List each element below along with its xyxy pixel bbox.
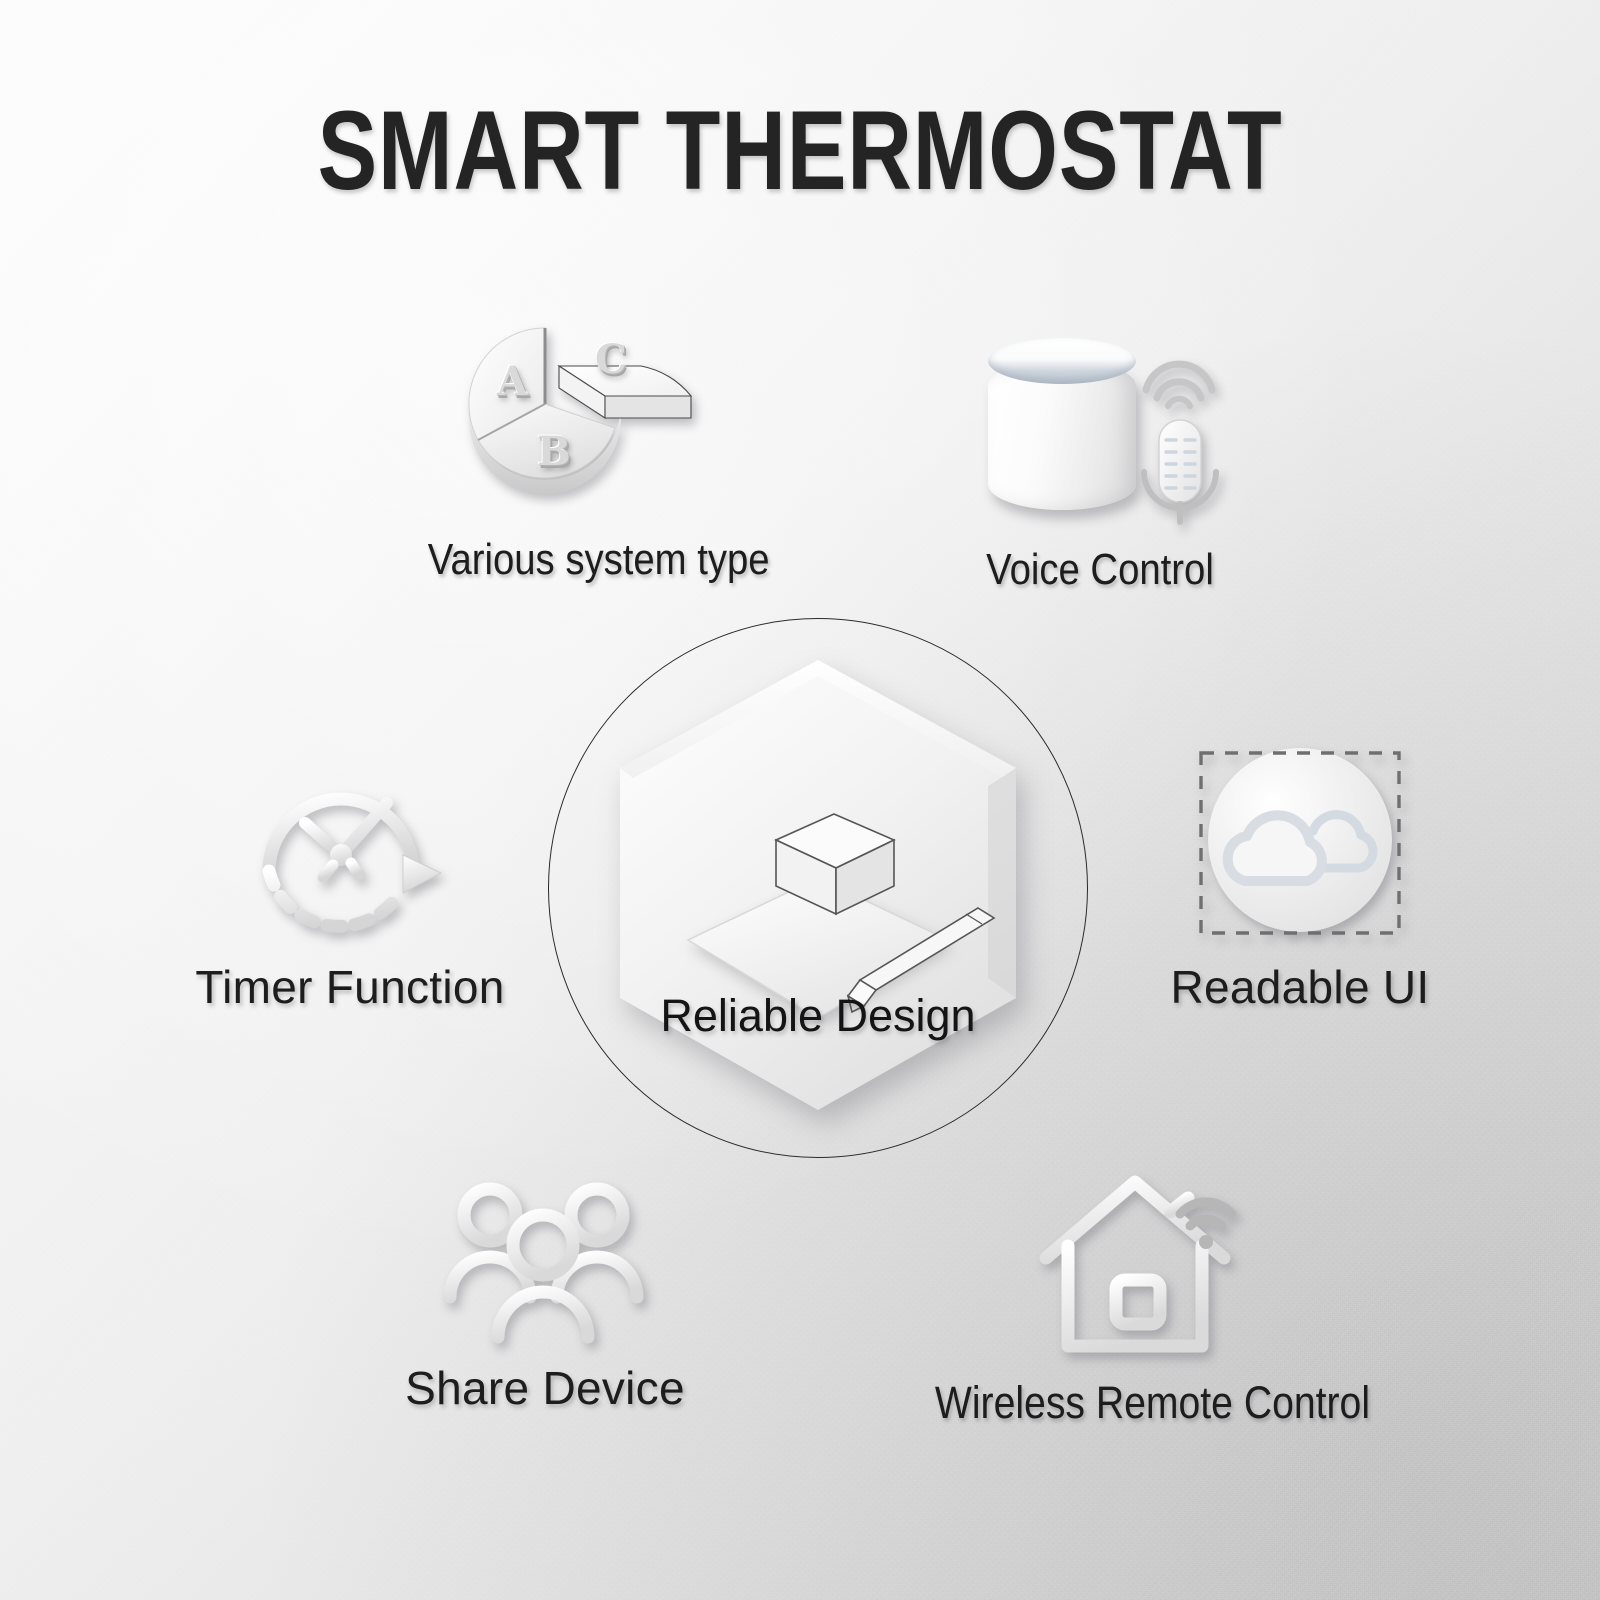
infographic-canvas: SMART THERMOSTAT [0,0,1600,1600]
clock-timer-arrow-icon [235,745,465,945]
pie-segment-label-a: A [497,358,528,405]
feature-label-various-system-type: Various system type [428,537,733,583]
center-feature-reliable-design[interactable]: Reliable Design [548,618,1088,1163]
feature-label-readable-ui: Readable UI [1135,963,1465,1011]
feature-label-wireless-remote-control: Wireless Remote Control [935,1379,1335,1426]
feature-wireless-remote-control[interactable]: Wireless Remote Control [905,1150,1365,1426]
house-wifi-icon [1020,1150,1250,1365]
feature-various-system-type[interactable]: A B C Various system type [405,300,755,583]
feature-readable-ui[interactable]: Readable UI [1135,735,1465,1011]
cloud-ui-selection-icon [1185,735,1415,945]
center-hexagon-plate [548,618,1088,1163]
feature-timer-function[interactable]: Timer Function [185,745,515,1011]
feature-label-timer-function: Timer Function [185,963,515,1011]
speaker-body-group [988,338,1136,516]
feature-share-device[interactable]: Share Device [375,1165,715,1412]
smart-speaker-microphone-icon [980,320,1220,525]
speaker-top-surface [988,338,1136,384]
feature-label-voice-control: Voice Control [952,547,1248,593]
pie-segment-label-b: B [537,428,571,475]
people-group-icon [430,1165,660,1350]
pie-segment-label-c: C [595,336,627,383]
center-feature-label: Reliable Design [548,990,1088,1042]
feature-label-share-device: Share Device [375,1364,715,1412]
feature-voice-control[interactable]: Voice Control [930,320,1270,593]
pie-chart-3d-icon: A B C [455,300,705,515]
page-title: SMART THERMOSTAT [160,95,1440,207]
